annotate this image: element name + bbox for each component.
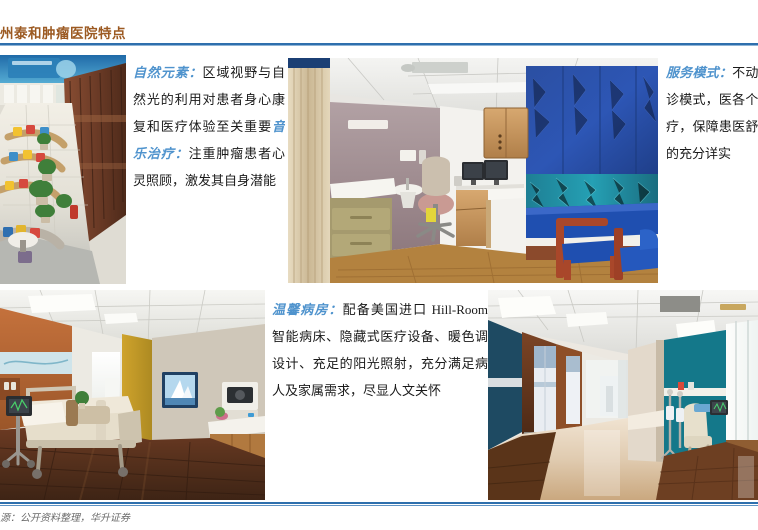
- lead-service-model: 服务模式：: [666, 65, 732, 80]
- photo-corridor: [488, 290, 758, 500]
- page-title: 州泰和肿瘤医院特点: [0, 22, 126, 42]
- photo-atrium: [0, 55, 126, 284]
- hospital-atrium-lobby-photo: [0, 55, 126, 284]
- photo-exam-room: [288, 58, 658, 283]
- lead-natural-elements: 自然元素：: [133, 65, 203, 80]
- text-block-ward: 温馨病房：配备美国进口 Hill-Room 智能病床、隐藏式医疗设备、暖色调设计…: [272, 296, 488, 501]
- hospital-corridor-photo: [488, 290, 758, 500]
- hospital-exam-room-photo: [288, 58, 658, 283]
- source-note: 源：公开资料整理，华升证券: [0, 509, 130, 524]
- lead-ward: 温馨病房：: [272, 302, 343, 317]
- footer-divider: [0, 502, 758, 506]
- text-block-service-model: 服务模式：不动医生动诊模式，医各个诊室流疗，保障患医舒适度及的充分详实: [666, 59, 758, 285]
- text-block-natural-elements: 自然元素：区域视野与自然光的利用对患者身心康复和医疗体验至关重要音乐治疗：注重肿…: [133, 59, 285, 285]
- hospital-patient-ward-photo: [0, 290, 265, 500]
- photo-ward: [0, 290, 265, 500]
- title-divider: [0, 43, 758, 46]
